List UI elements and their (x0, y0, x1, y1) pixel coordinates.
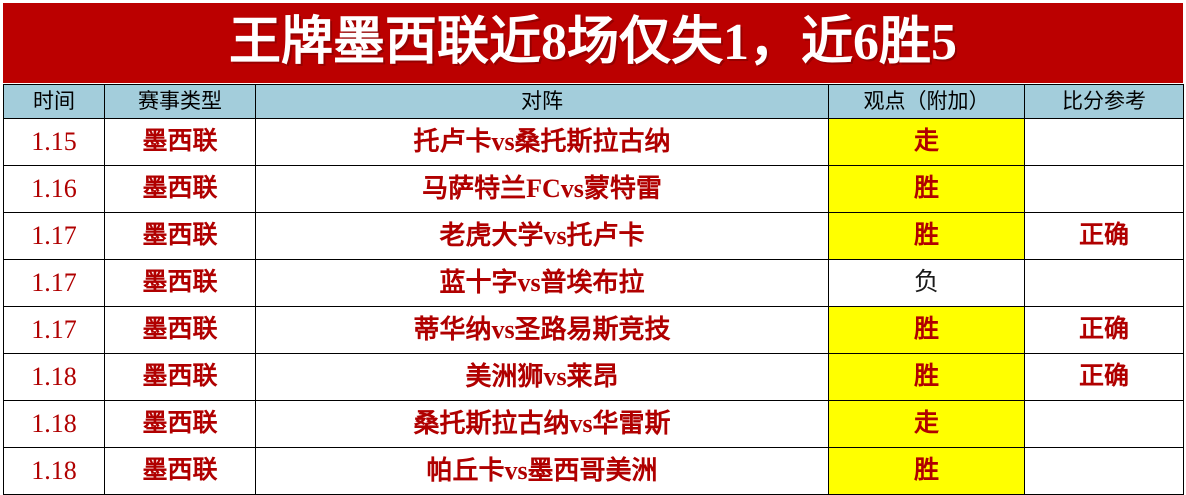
cell-league: 墨西联 (105, 354, 256, 401)
column-header-score: 比分参考 (1025, 85, 1184, 119)
cell-time: 1.18 (4, 354, 105, 401)
column-header-league: 赛事类型 (105, 85, 256, 119)
cell-league: 墨西联 (105, 448, 256, 495)
cell-viewpoint: 胜 (829, 448, 1025, 495)
cell-league: 墨西联 (105, 213, 256, 260)
page-title: 王牌墨西联近8场仅失1，近6胜5 (229, 17, 957, 69)
cell-score-result (1025, 401, 1184, 448)
cell-score-result: 正确 (1025, 354, 1184, 401)
cell-league: 墨西联 (105, 260, 256, 307)
table-row: 1.18墨西联桑托斯拉古纳vs华雷斯走 (4, 401, 1184, 448)
cell-viewpoint: 走 (829, 401, 1025, 448)
cell-league: 墨西联 (105, 401, 256, 448)
cell-league: 墨西联 (105, 166, 256, 213)
cell-time: 1.17 (4, 213, 105, 260)
cell-match: 马萨特兰FCvs蒙特雷 (256, 166, 829, 213)
column-header-time: 时间 (4, 85, 105, 119)
cell-time: 1.18 (4, 448, 105, 495)
cell-viewpoint: 胜 (829, 354, 1025, 401)
cell-time: 1.15 (4, 119, 105, 166)
table-header: 时间 赛事类型 对阵 观点（附加） 比分参考 (4, 85, 1184, 119)
cell-match: 蒂华纳vs圣路易斯竞技 (256, 307, 829, 354)
cell-score-result: 正确 (1025, 213, 1184, 260)
cell-viewpoint: 胜 (829, 307, 1025, 354)
cell-time: 1.16 (4, 166, 105, 213)
cell-score-result (1025, 260, 1184, 307)
column-header-view: 观点（附加） (829, 85, 1025, 119)
table-row: 1.17墨西联老虎大学vs托卢卡胜正确 (4, 213, 1184, 260)
cell-match: 美洲狮vs莱昂 (256, 354, 829, 401)
cell-match: 桑托斯拉古纳vs华雷斯 (256, 401, 829, 448)
cell-viewpoint: 负 (829, 260, 1025, 307)
cell-viewpoint: 走 (829, 119, 1025, 166)
table-row: 1.15墨西联托卢卡vs桑托斯拉古纳走 (4, 119, 1184, 166)
table-row: 1.18墨西联帕丘卡vs墨西哥美洲胜 (4, 448, 1184, 495)
cell-match: 蓝十字vs普埃布拉 (256, 260, 829, 307)
cell-time: 1.18 (4, 401, 105, 448)
cell-viewpoint: 胜 (829, 166, 1025, 213)
cell-match: 老虎大学vs托卢卡 (256, 213, 829, 260)
cell-viewpoint: 胜 (829, 213, 1025, 260)
cell-score-result (1025, 166, 1184, 213)
table-body: 1.15墨西联托卢卡vs桑托斯拉古纳走1.16墨西联马萨特兰FCvs蒙特雷胜1.… (4, 119, 1184, 495)
page-root: 王牌墨西联近8场仅失1，近6胜5 时间 赛事类型 对阵 观点（附加） 比分参考 … (0, 0, 1186, 492)
table-row: 1.17墨西联蓝十字vs普埃布拉负 (4, 260, 1184, 307)
title-banner: 王牌墨西联近8场仅失1，近6胜5 (3, 3, 1183, 83)
cell-league: 墨西联 (105, 119, 256, 166)
cell-match: 托卢卡vs桑托斯拉古纳 (256, 119, 829, 166)
cell-time: 1.17 (4, 260, 105, 307)
cell-score-result (1025, 448, 1184, 495)
table-row: 1.18墨西联美洲狮vs莱昂胜正确 (4, 354, 1184, 401)
table-row: 1.16墨西联马萨特兰FCvs蒙特雷胜 (4, 166, 1184, 213)
cell-league: 墨西联 (105, 307, 256, 354)
cell-score-result: 正确 (1025, 307, 1184, 354)
column-header-match: 对阵 (256, 85, 829, 119)
table-row: 1.17墨西联蒂华纳vs圣路易斯竞技胜正确 (4, 307, 1184, 354)
cell-match: 帕丘卡vs墨西哥美洲 (256, 448, 829, 495)
cell-score-result (1025, 119, 1184, 166)
table-header-row: 时间 赛事类型 对阵 观点（附加） 比分参考 (4, 85, 1184, 119)
cell-time: 1.17 (4, 307, 105, 354)
fixtures-table: 时间 赛事类型 对阵 观点（附加） 比分参考 1.15墨西联托卢卡vs桑托斯拉古… (3, 84, 1184, 495)
